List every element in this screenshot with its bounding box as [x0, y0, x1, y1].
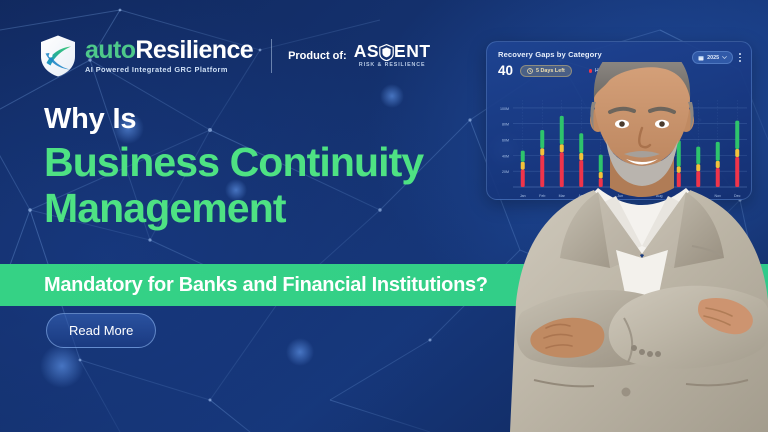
logo-wordmark: autoResilience: [85, 38, 253, 63]
header-logo-bar: autoResilience AI Powered Integrated GRC…: [38, 33, 431, 79]
year-value: 2025: [707, 55, 719, 61]
product-of-label: Product of:: [288, 50, 347, 62]
shield-icon: [379, 44, 394, 61]
ascent-logo[interactable]: Product of: AS ENT RISK & RESILIENCE: [288, 43, 430, 68]
headline-line-3: Management: [44, 186, 423, 232]
chevron-down-icon: [722, 56, 727, 59]
calendar-icon: [698, 55, 704, 61]
logo-word-resilience: Resilience: [135, 36, 253, 64]
read-more-button[interactable]: Read More: [46, 313, 156, 348]
logo-tagline: AI Powered Integrated GRC Platform: [85, 66, 253, 73]
ascent-wordmark: AS ENT: [354, 43, 431, 61]
ascent-text-post: ENT: [394, 43, 431, 61]
logo-word-auto: auto: [85, 36, 135, 64]
headline-block: Why Is Business Continuity Management: [44, 104, 423, 232]
headline-line-1: Why Is: [44, 104, 423, 135]
autoresilience-logo[interactable]: autoResilience AI Powered Integrated GRC…: [38, 34, 253, 78]
subheadline-text: Mandatory for Banks and Financial Instit…: [44, 274, 488, 297]
ascent-tagline: RISK & RESILIENCE: [359, 63, 426, 68]
ascent-text-pre: AS: [354, 43, 379, 61]
shield-swoosh-icon: [38, 34, 78, 78]
promotional-banner: autoResilience AI Powered Integrated GRC…: [0, 0, 768, 432]
businessman-portrait: [506, 62, 768, 432]
headline-line-2: Business Continuity: [44, 140, 423, 186]
header-divider: [271, 39, 272, 73]
